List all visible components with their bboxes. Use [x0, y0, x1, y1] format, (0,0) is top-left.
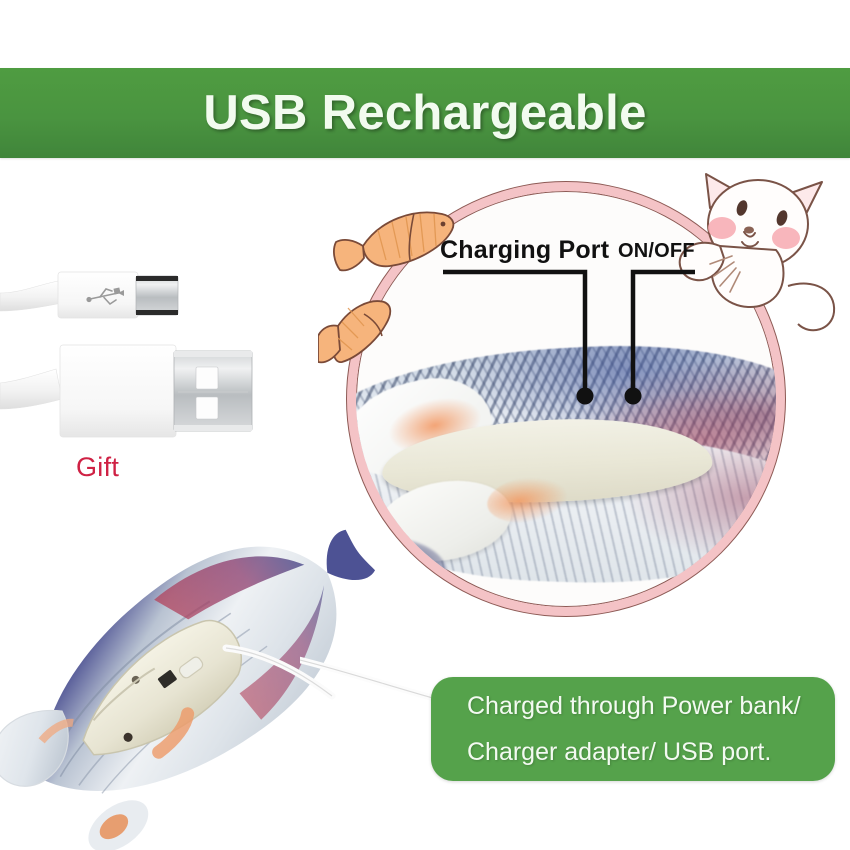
- cat-eye-left-icon: [735, 199, 749, 217]
- usb-a-connector: [0, 345, 252, 437]
- cat-cheek-left-icon: [708, 217, 736, 239]
- info-box-line-1: Charged through Power bank/: [467, 683, 801, 729]
- page-title: USB Rechargeable: [203, 85, 646, 141]
- usb-cables-illustration: [0, 255, 300, 470]
- product-infographic: USB Rechargeable: [0, 0, 850, 850]
- info-box: Charged through Power bank/ Charger adap…: [431, 677, 835, 781]
- header-banner: USB Rechargeable: [0, 68, 850, 158]
- cat-nose-icon: [744, 227, 754, 234]
- info-box-line-2: Charger adapter/ USB port.: [467, 729, 771, 775]
- cat-eye-right-icon: [775, 209, 789, 227]
- gift-usb-cables: [0, 255, 300, 470]
- usb-c-connector: [0, 272, 178, 318]
- cat-cheek-right-icon: [772, 227, 800, 249]
- gift-label: Gift: [76, 452, 119, 483]
